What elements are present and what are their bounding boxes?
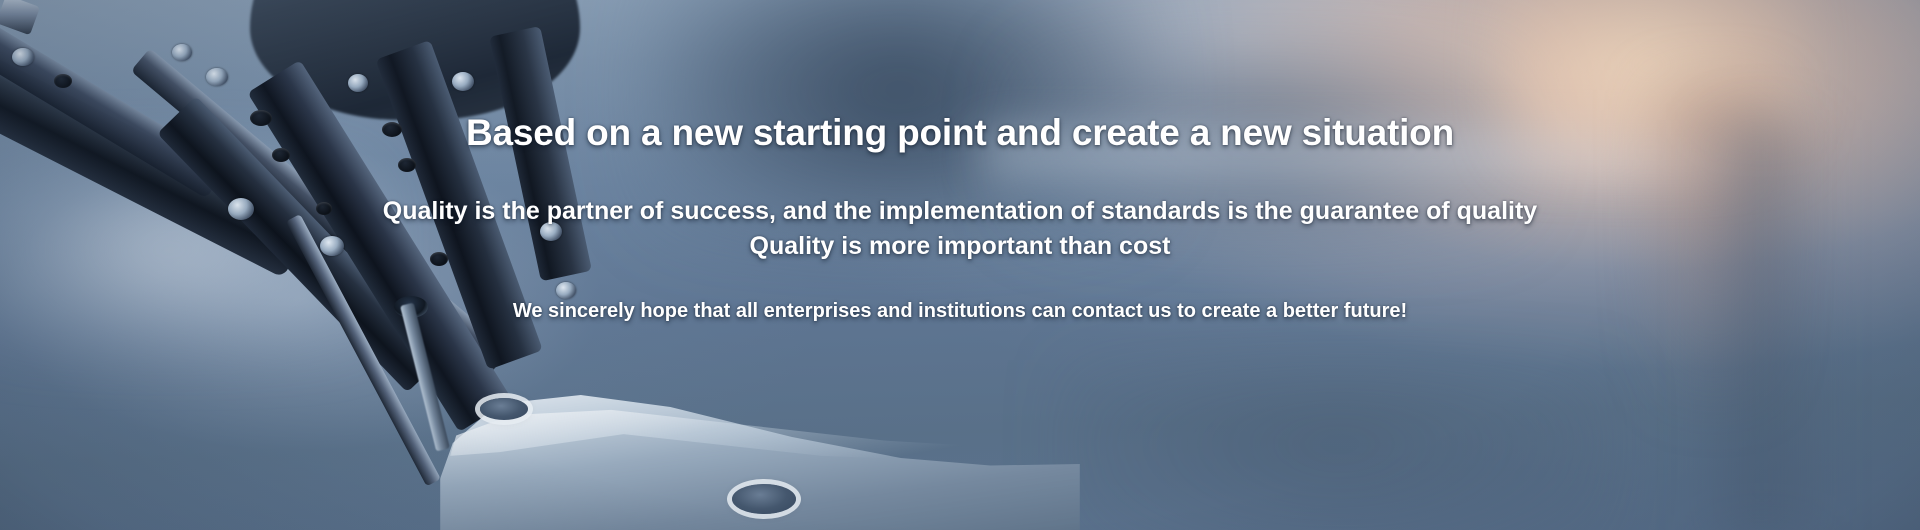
banner-headline: Based on a new starting point and create… — [0, 112, 1920, 155]
banner-content: Based on a new starting point and create… — [0, 0, 1920, 530]
banner-tagline: We sincerely hope that all enterprises a… — [0, 297, 1920, 325]
banner-subline-1: Quality is the partner of success, and t… — [0, 193, 1920, 230]
hero-banner: Based on a new starting point and create… — [0, 0, 1920, 530]
banner-subline-2: Quality is more important than cost — [0, 228, 1920, 265]
